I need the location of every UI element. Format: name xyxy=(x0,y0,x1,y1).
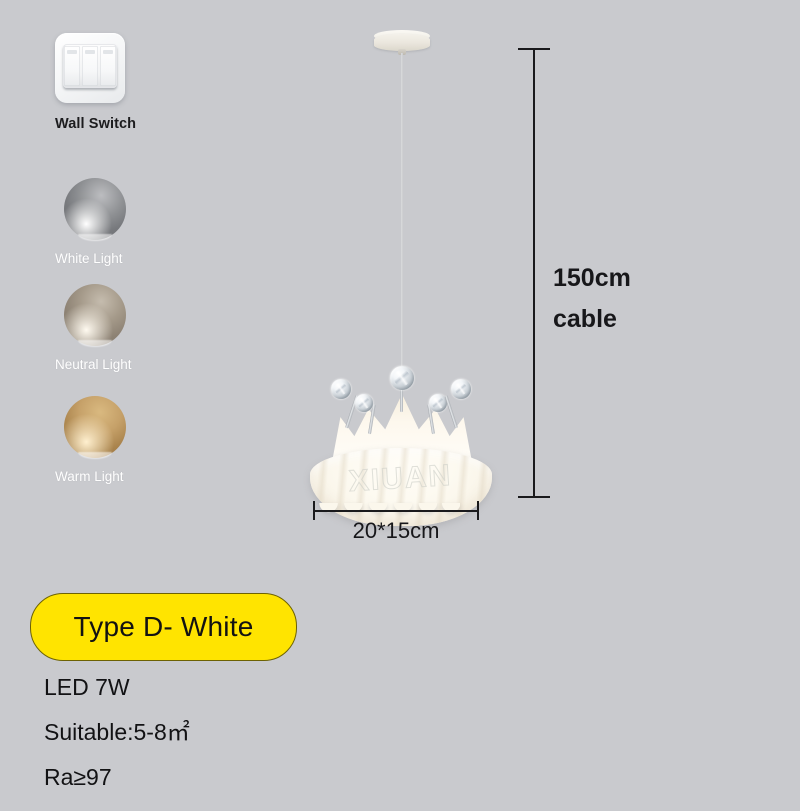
crystal-ball-icon xyxy=(390,366,414,390)
spec-line-area: Suitable:5-8㎡ xyxy=(44,721,374,744)
vertical-dimension-cap-bottom xyxy=(518,496,550,498)
light-option-neutral[interactable]: Neutral Light xyxy=(55,284,200,372)
light-option-label: White Light xyxy=(55,251,200,266)
wall-switch-icon xyxy=(55,33,125,103)
pendant-lamp-product: XIUAN xyxy=(296,28,506,508)
wall-switch-option[interactable]: Wall Switch xyxy=(55,33,135,132)
type-badge[interactable]: Type D- White xyxy=(30,593,297,661)
crystal-ball-icon xyxy=(331,379,351,399)
crystal-prong xyxy=(445,395,458,428)
sphere-icon xyxy=(64,284,126,346)
horizontal-dimension-line xyxy=(313,510,479,512)
switch-rocker xyxy=(64,46,80,86)
wall-switch-rockers xyxy=(63,44,117,88)
light-option-label: Warm Light xyxy=(55,469,200,484)
switch-rocker xyxy=(82,46,98,86)
crown-head: XIUAN xyxy=(296,366,506,516)
vertical-dimension-line xyxy=(533,48,535,497)
type-badge-label: Type D- White xyxy=(74,611,254,643)
spec-line-cri: Ra≥97 xyxy=(44,766,374,789)
vertical-dimension-cap-top xyxy=(518,48,550,50)
spec-line-power: LED 7W xyxy=(44,676,374,699)
sphere-icon xyxy=(64,178,126,240)
switch-rocker xyxy=(100,46,116,86)
suspension-cable xyxy=(401,53,403,383)
light-option-warm[interactable]: Warm Light xyxy=(55,396,200,484)
spec-list: LED 7W Suitable:5-8㎡ Ra≥97 xyxy=(44,676,374,811)
vertical-dimension-label: 150cm cable xyxy=(553,258,631,341)
cable-length-unit: cable xyxy=(553,299,631,340)
product-image-canvas: Wall Switch White Light Neutral Light Wa… xyxy=(0,0,800,800)
crystal-ball-icon xyxy=(355,394,373,412)
horizontal-dimension-label: 20*15cm xyxy=(313,518,479,544)
sphere-icon xyxy=(64,396,126,458)
light-option-white[interactable]: White Light xyxy=(55,178,200,266)
cable-length-value: 150cm xyxy=(553,258,631,299)
light-option-label: Neutral Light xyxy=(55,357,200,372)
crystal-ball-icon xyxy=(451,379,471,399)
wall-switch-label: Wall Switch xyxy=(55,116,135,132)
